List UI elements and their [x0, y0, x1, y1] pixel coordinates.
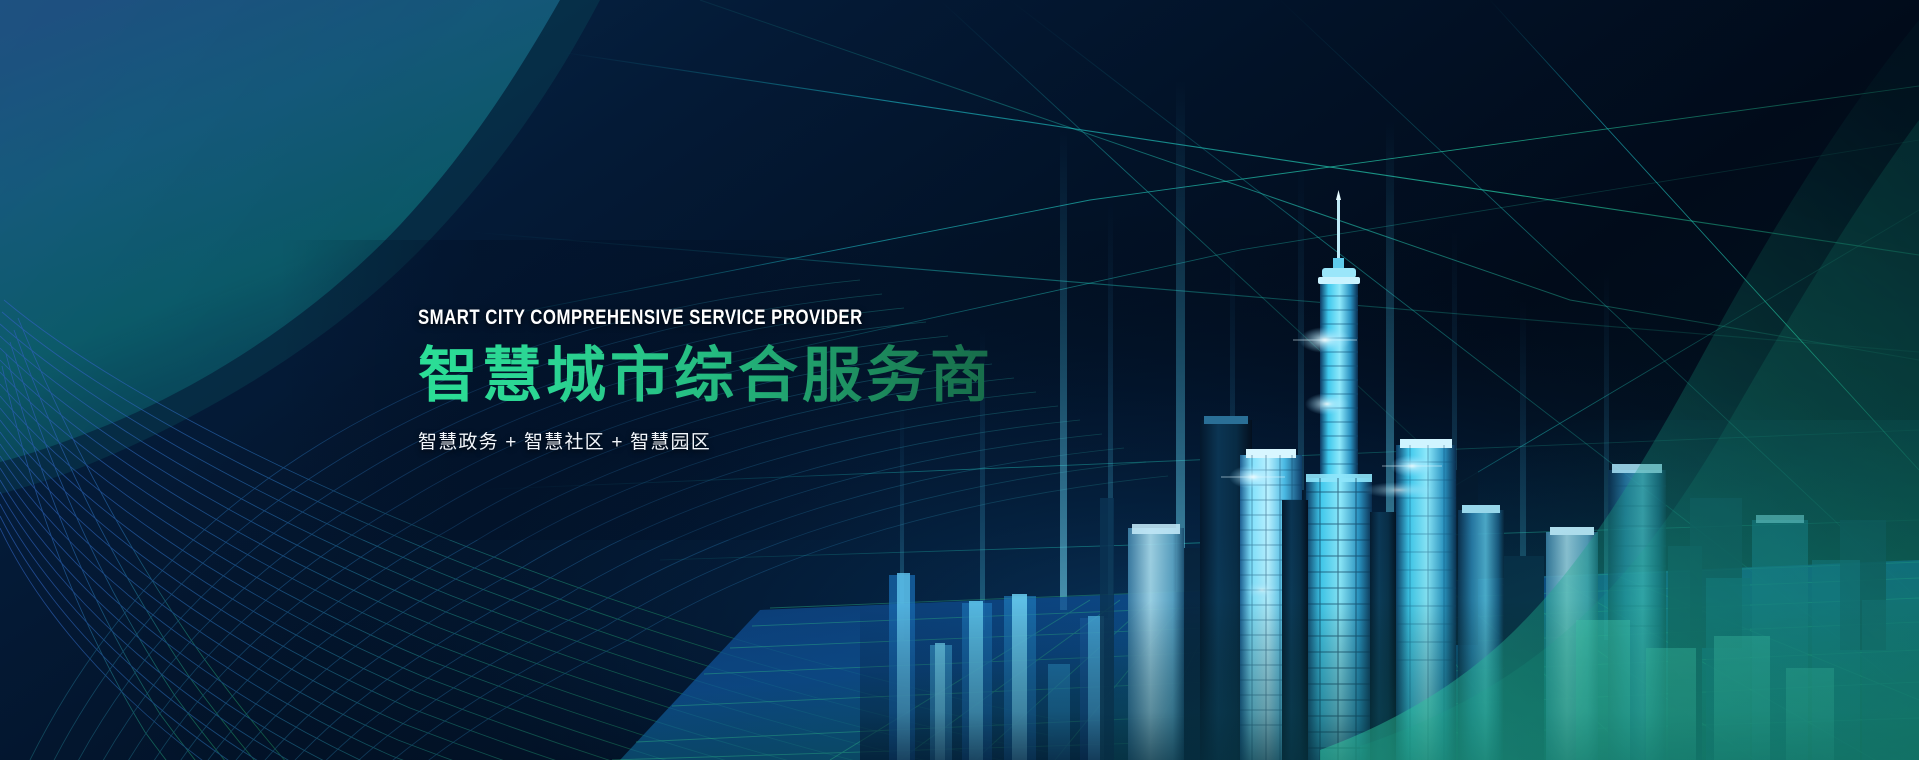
page-title: 智慧城市综合服务商 — [418, 342, 994, 409]
hero-banner: SMART CITY COMPREHENSIVE SERVICE PROVIDE… — [0, 0, 1919, 760]
hero-eyebrow: SMART CITY COMPREHENSIVE SERVICE PROVIDE… — [418, 306, 879, 329]
hero-text-block: SMART CITY COMPREHENSIVE SERVICE PROVIDE… — [418, 306, 994, 454]
hero-subtitle: 智慧政务 + 智慧社区 + 智慧园区 — [418, 427, 994, 454]
